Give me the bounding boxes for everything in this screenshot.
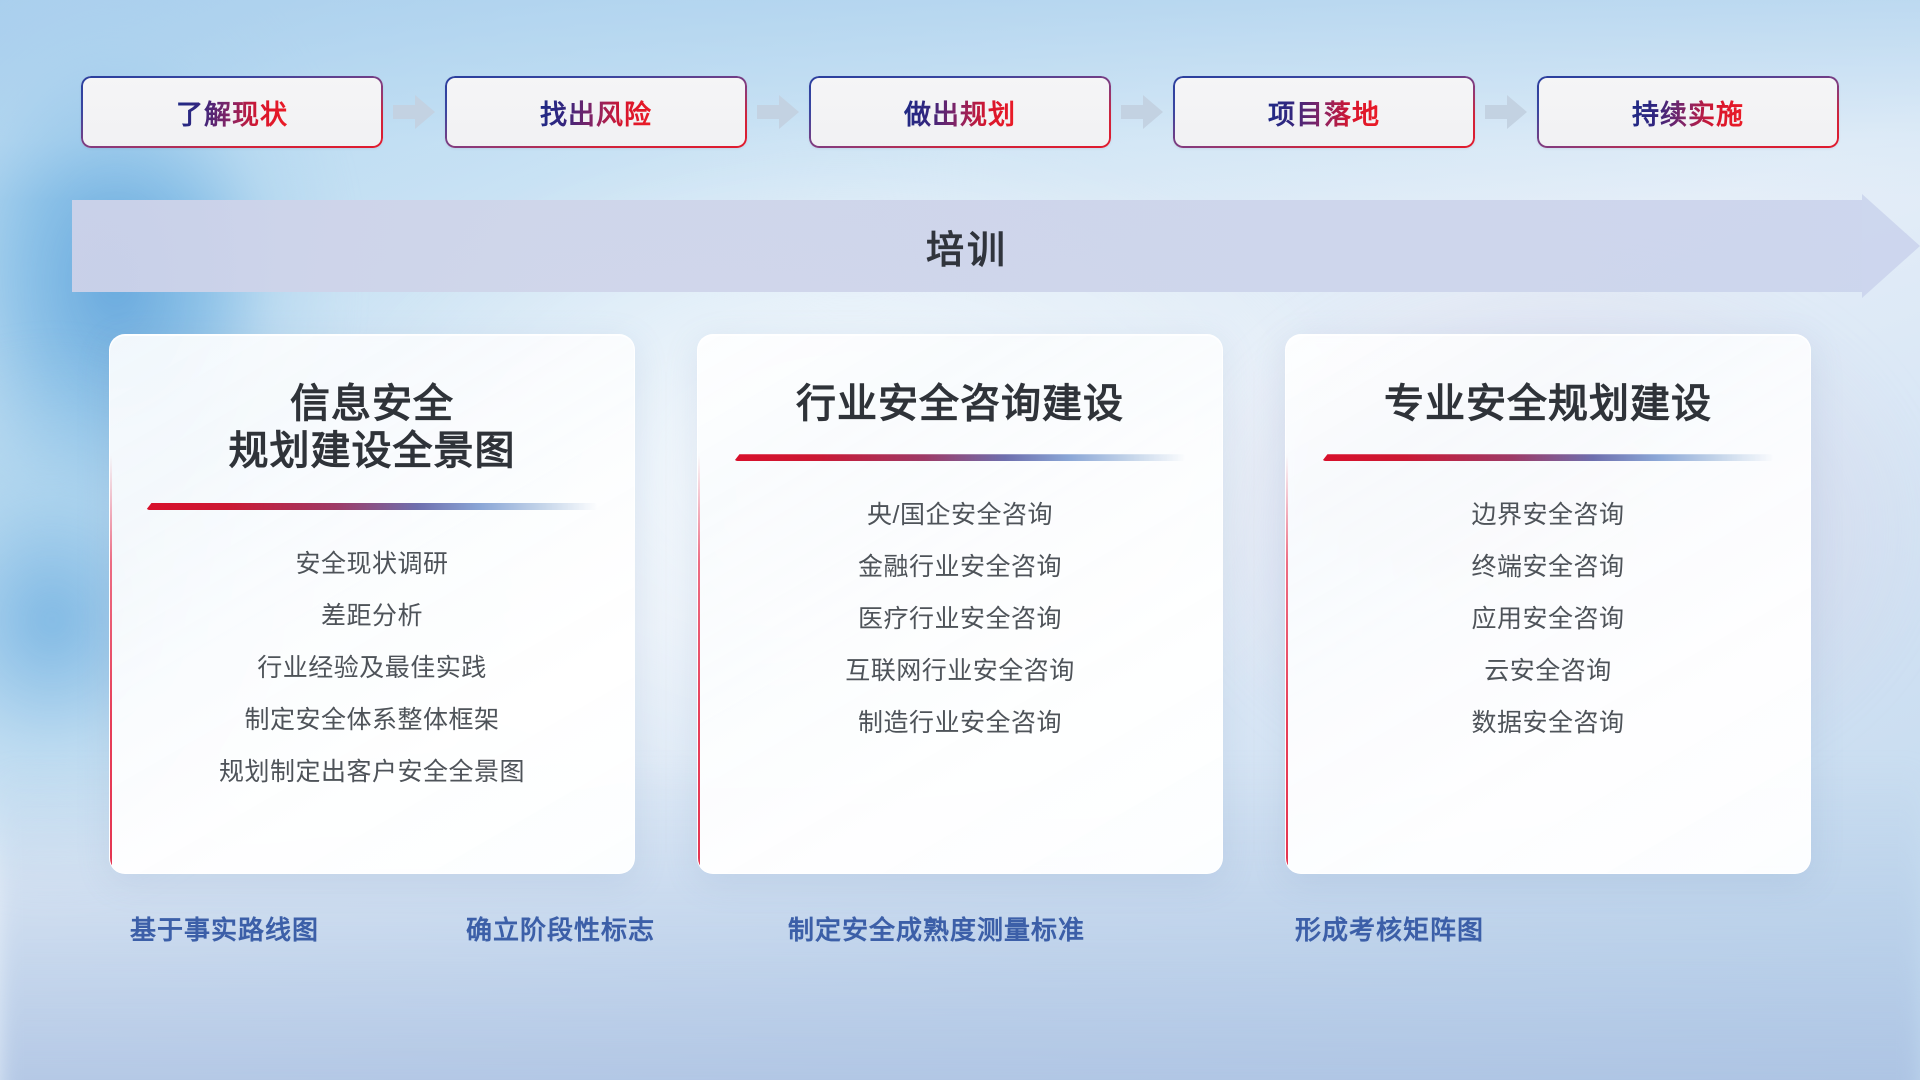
- outcome-label-3: 制定安全成熟度测量标准: [788, 910, 1085, 947]
- list-item[interactable]: 规划制定出客户安全全景图: [219, 752, 525, 788]
- step-chip-5[interactable]: 持续实施: [1537, 76, 1839, 148]
- step-chip-label: 项目落地: [1268, 93, 1380, 132]
- list-item[interactable]: 互联网行业安全咨询: [845, 651, 1075, 687]
- list-item[interactable]: 央/国企安全咨询: [867, 495, 1053, 531]
- service-card-list: 边界安全咨询终端安全咨询应用安全咨询云安全咨询数据安全咨询: [1314, 495, 1782, 739]
- step-arrow-right-icon: [383, 76, 445, 148]
- outcome-label-4: 形成考核矩阵图: [1295, 910, 1484, 947]
- step-arrow-right-icon: [1475, 76, 1537, 148]
- service-card-title: 专业安全规划建设: [1314, 381, 1782, 428]
- list-item[interactable]: 应用安全咨询: [1471, 599, 1624, 635]
- step-chip-2[interactable]: 找出风险: [445, 76, 747, 148]
- list-item[interactable]: 医疗行业安全咨询: [858, 599, 1062, 635]
- service-card-group: 信息安全 规划建设全景图安全现状调研差距分析行业经验及最佳实践制定安全体系整体框…: [0, 334, 1920, 886]
- list-item[interactable]: 云安全咨询: [1484, 651, 1612, 687]
- service-card-divider: [1322, 454, 1774, 461]
- service-card-1[interactable]: 信息安全 规划建设全景图安全现状调研差距分析行业经验及最佳实践制定安全体系整体框…: [109, 334, 635, 874]
- step-arrow-right-icon: [1111, 76, 1173, 148]
- outcome-label-2: 确立阶段性标志: [466, 910, 655, 947]
- step-chip-label: 做出规划: [904, 93, 1016, 132]
- list-item[interactable]: 数据安全咨询: [1471, 703, 1624, 739]
- process-step-flow: 了解现状找出风险做出规划项目落地持续实施: [0, 72, 1920, 152]
- service-card-divider: [146, 503, 598, 510]
- training-banner-arrow-tip-icon: [1862, 194, 1920, 298]
- list-item[interactable]: 金融行业安全咨询: [858, 547, 1062, 583]
- list-item[interactable]: 边界安全咨询: [1471, 495, 1624, 531]
- step-chip-label: 找出风险: [540, 93, 652, 132]
- list-item[interactable]: 制造行业安全咨询: [858, 703, 1062, 739]
- service-card-title: 行业安全咨询建设: [726, 381, 1194, 428]
- list-item[interactable]: 行业经验及最佳实践: [257, 648, 487, 684]
- step-chip-3[interactable]: 做出规划: [809, 76, 1111, 148]
- training-banner: 培训: [72, 200, 1920, 292]
- step-arrow-right-icon: [747, 76, 809, 148]
- step-chip-4[interactable]: 项目落地: [1173, 76, 1475, 148]
- training-banner-label: 培训: [72, 200, 1862, 292]
- service-card-list: 安全现状调研差距分析行业经验及最佳实践制定安全体系整体框架规划制定出客户安全全景…: [138, 544, 606, 788]
- step-chip-label: 持续实施: [1632, 93, 1744, 132]
- service-card-title: 信息安全 规划建设全景图: [138, 381, 606, 477]
- list-item[interactable]: 差距分析: [321, 596, 423, 632]
- list-item[interactable]: 安全现状调研: [295, 544, 448, 580]
- outcome-label-row: 基于事实路线图确立阶段性标志制定安全成熟度测量标准形成考核矩阵图: [0, 910, 1920, 970]
- service-card-divider: [734, 454, 1186, 461]
- list-item[interactable]: 终端安全咨询: [1471, 547, 1624, 583]
- service-card-list: 央/国企安全咨询金融行业安全咨询医疗行业安全咨询互联网行业安全咨询制造行业安全咨…: [726, 495, 1194, 739]
- step-chip-1[interactable]: 了解现状: [81, 76, 383, 148]
- service-card-3[interactable]: 专业安全规划建设边界安全咨询终端安全咨询应用安全咨询云安全咨询数据安全咨询: [1285, 334, 1811, 874]
- outcome-label-1: 基于事实路线图: [130, 910, 319, 947]
- service-card-2[interactable]: 行业安全咨询建设央/国企安全咨询金融行业安全咨询医疗行业安全咨询互联网行业安全咨…: [697, 334, 1223, 874]
- list-item[interactable]: 制定安全体系整体框架: [244, 700, 499, 736]
- step-chip-label: 了解现状: [176, 93, 288, 132]
